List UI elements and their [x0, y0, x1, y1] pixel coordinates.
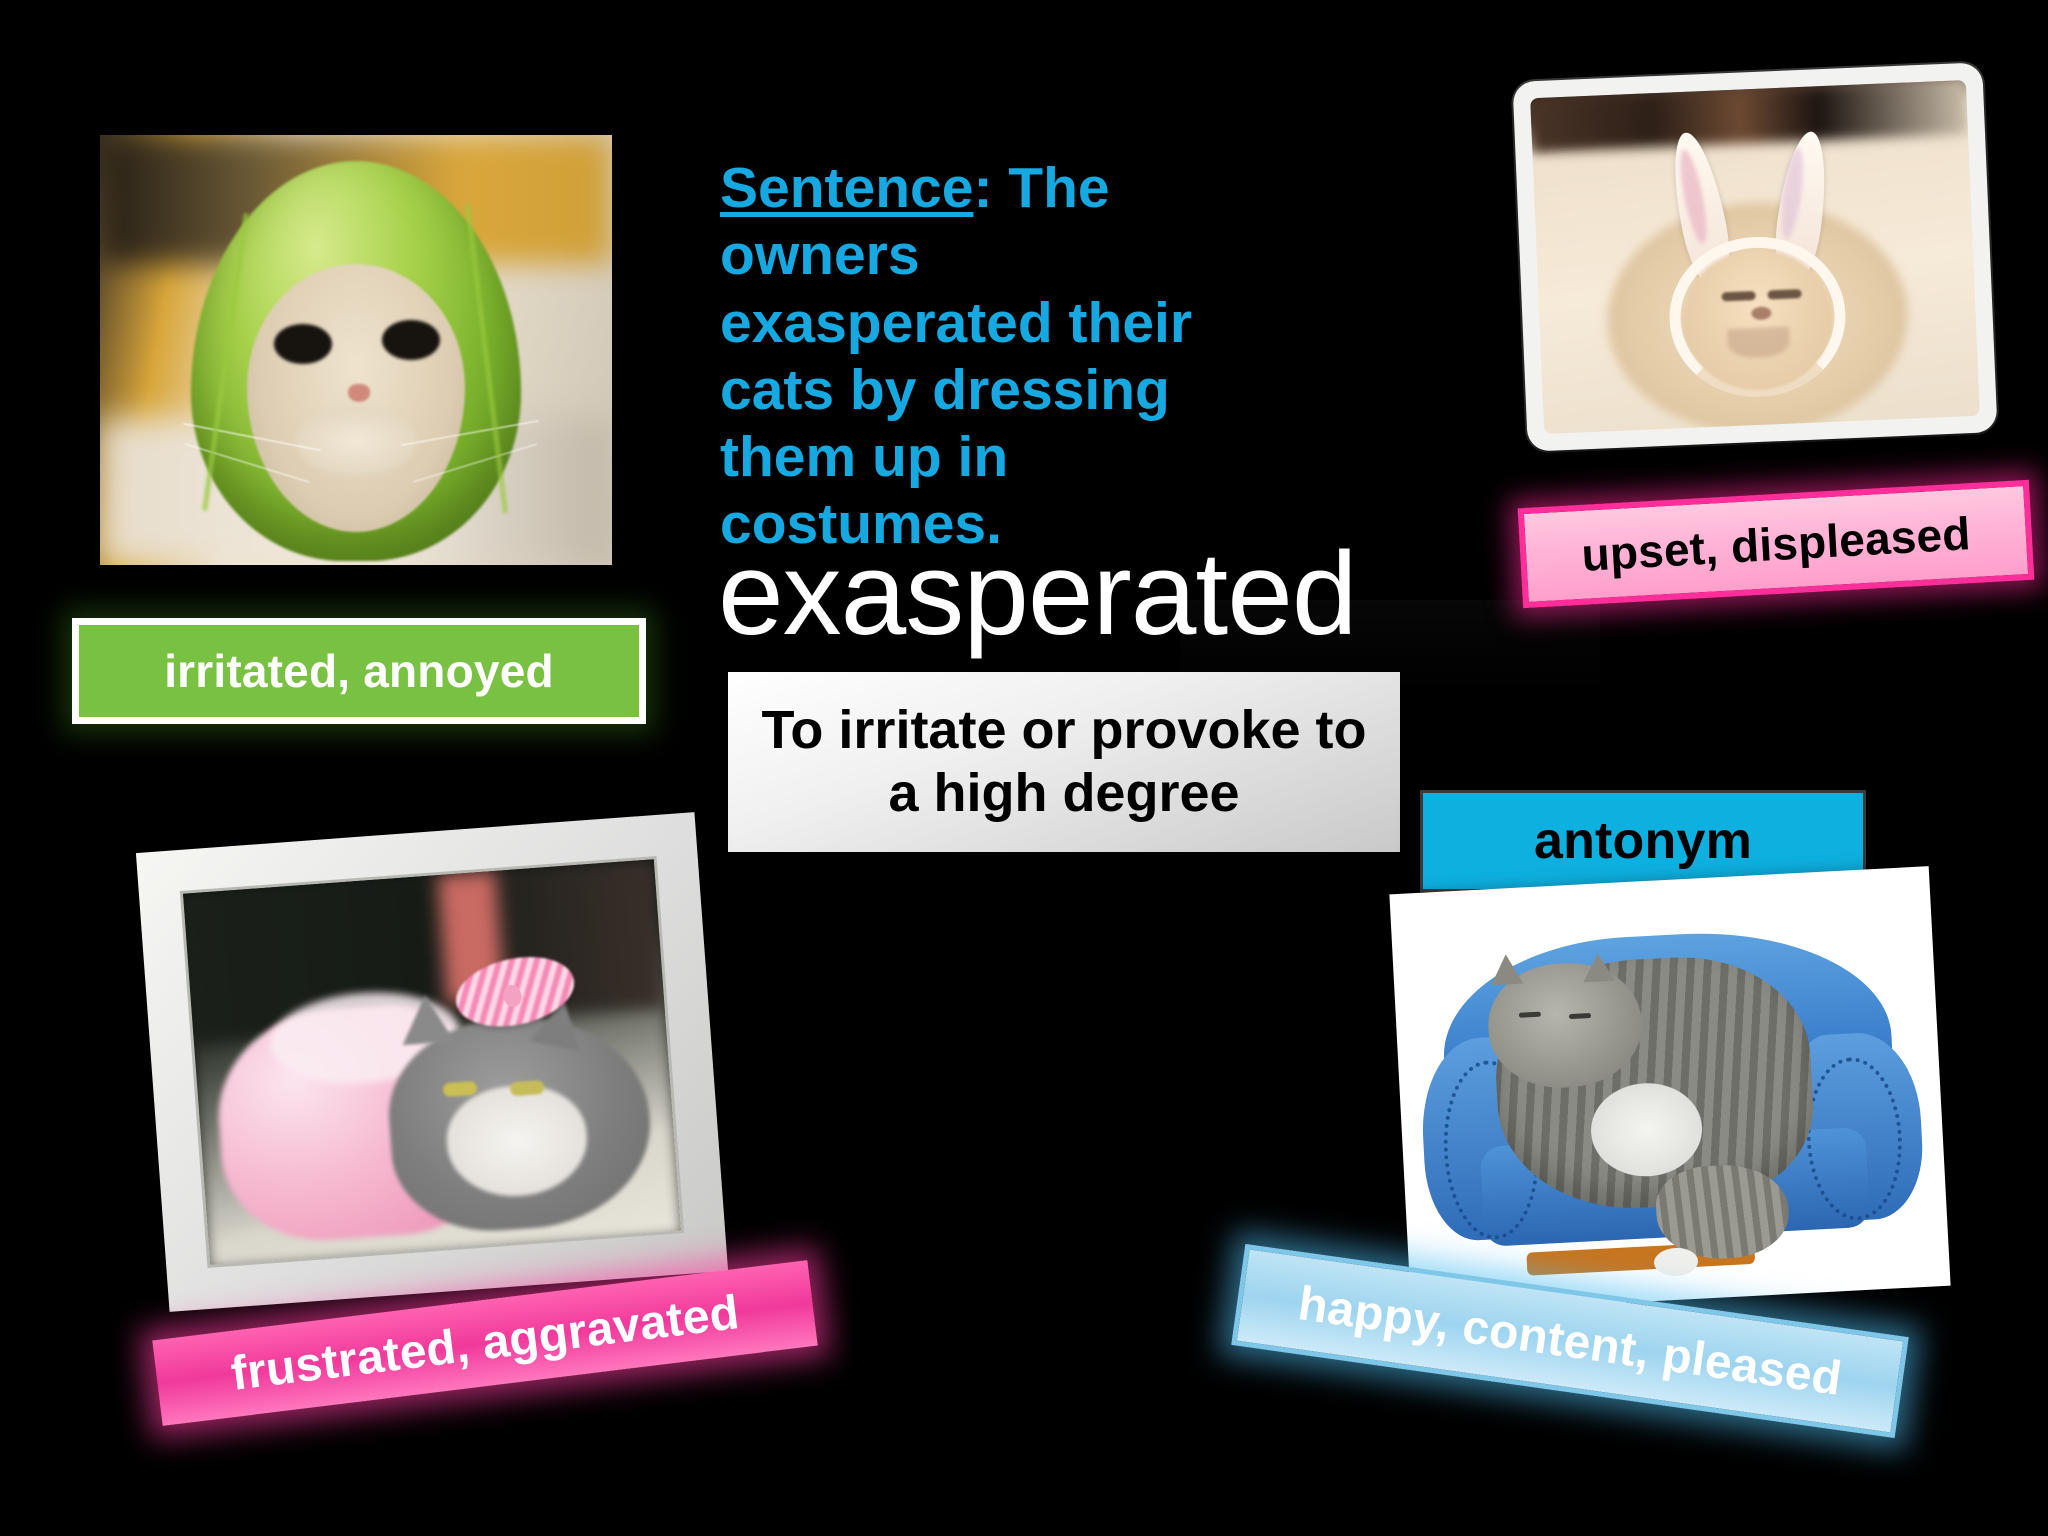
photo-bunny-ears-cat [1512, 62, 1997, 451]
lime-helmet-cat-scene [100, 135, 612, 565]
label-synonym-irritated-annoyed-text: irritated, annoyed [164, 644, 554, 698]
photo-lime-helmet-cat [100, 135, 612, 565]
sentence-keyword: exasperated [720, 291, 1053, 355]
photo-sofa-cat [1389, 866, 1950, 1314]
label-synonym-irritated-annoyed: irritated, annoyed [72, 618, 646, 724]
photo-pink-dress-cat [136, 812, 728, 1312]
pink-dress-cat-scene [183, 859, 681, 1265]
sentence-prefix-label: Sentence [720, 156, 973, 220]
label-synonym-upset-displeased: upset, displeased [1518, 480, 2035, 608]
page-title-headword: exasperated [718, 535, 1356, 653]
sentence-colon: : [973, 156, 1008, 220]
vocabulary-slide: irritated, annoyed Sentence: The owners … [0, 0, 2048, 1536]
bunny-ears-cat-scene [1530, 80, 1980, 434]
label-synonym-upset-displeased-text: upset, displeased [1580, 506, 1972, 582]
definition-box: To irritate or provoke to a high degree [728, 672, 1400, 852]
sentence-block: Sentence: The owners exasperated their c… [720, 155, 1240, 559]
sofa-cat-scene [1406, 883, 1934, 1297]
label-synonym-frustrated-aggravated-text: frustrated, aggravated [228, 1285, 742, 1402]
label-antonym-header-text: antonym [1534, 811, 1752, 871]
